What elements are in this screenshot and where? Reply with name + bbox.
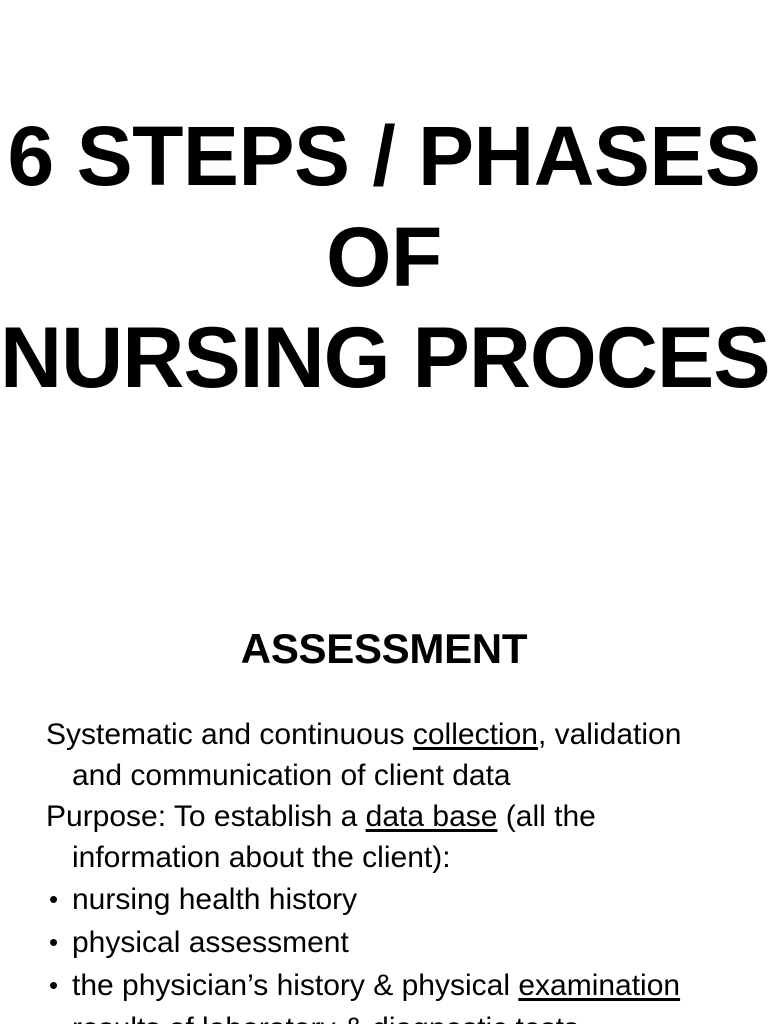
title-line-2: OF bbox=[0, 207, 768, 308]
title-line-1: 6 STEPS / PHASES bbox=[0, 106, 768, 207]
bullet-point-icon: • bbox=[49, 964, 58, 1007]
bullet-item: •results of laboratory & diagnostic test… bbox=[46, 1007, 710, 1024]
title-line-3: NURSING PROCESS bbox=[0, 308, 768, 409]
text-run: nursing health history bbox=[72, 883, 357, 916]
text-run: the physician’s history & physical bbox=[72, 969, 518, 1002]
bullet-text: nursing health history bbox=[72, 883, 357, 916]
text-run: Purpose: To establish a bbox=[46, 800, 366, 833]
slide-title: 6 STEPS / PHASES OF NURSING PROCESS bbox=[0, 106, 768, 409]
bullet-text: physical assessment bbox=[72, 926, 349, 959]
body-content: Systematic and continuous collection, va… bbox=[46, 714, 710, 1024]
text-run: results of laboratory & diagnostic tests bbox=[72, 1012, 579, 1024]
text-run: physical assessment bbox=[72, 926, 349, 959]
section-heading-assessment: ASSESSMENT bbox=[0, 625, 768, 673]
underlined-term: examination bbox=[518, 969, 680, 1002]
underlined-term: data base bbox=[366, 800, 498, 833]
bullet-point-icon: • bbox=[49, 1007, 58, 1024]
bullet-list: •nursing health history•physical assessm… bbox=[46, 878, 710, 1024]
bullet-point-icon: • bbox=[49, 921, 58, 964]
paragraph: Purpose: To establish a data base (all t… bbox=[46, 796, 710, 878]
bullet-text: the physician’s history & physical exami… bbox=[72, 969, 680, 1002]
paragraph-group: Systematic and continuous collection, va… bbox=[46, 714, 710, 878]
text-run: Systematic and continuous bbox=[46, 718, 413, 751]
bullet-item: •physical assessment bbox=[46, 921, 710, 964]
bullet-point-icon: • bbox=[49, 878, 58, 921]
bullet-text: results of laboratory & diagnostic tests bbox=[72, 1012, 579, 1024]
paragraph: Systematic and continuous collection, va… bbox=[46, 714, 710, 796]
bullet-item: •nursing health history bbox=[46, 878, 710, 921]
bullet-item: •the physician’s history & physical exam… bbox=[46, 964, 710, 1007]
slide-canvas: 6 STEPS / PHASES OF NURSING PROCESS ASSE… bbox=[0, 0, 768, 1024]
underlined-term: collection bbox=[413, 718, 538, 751]
